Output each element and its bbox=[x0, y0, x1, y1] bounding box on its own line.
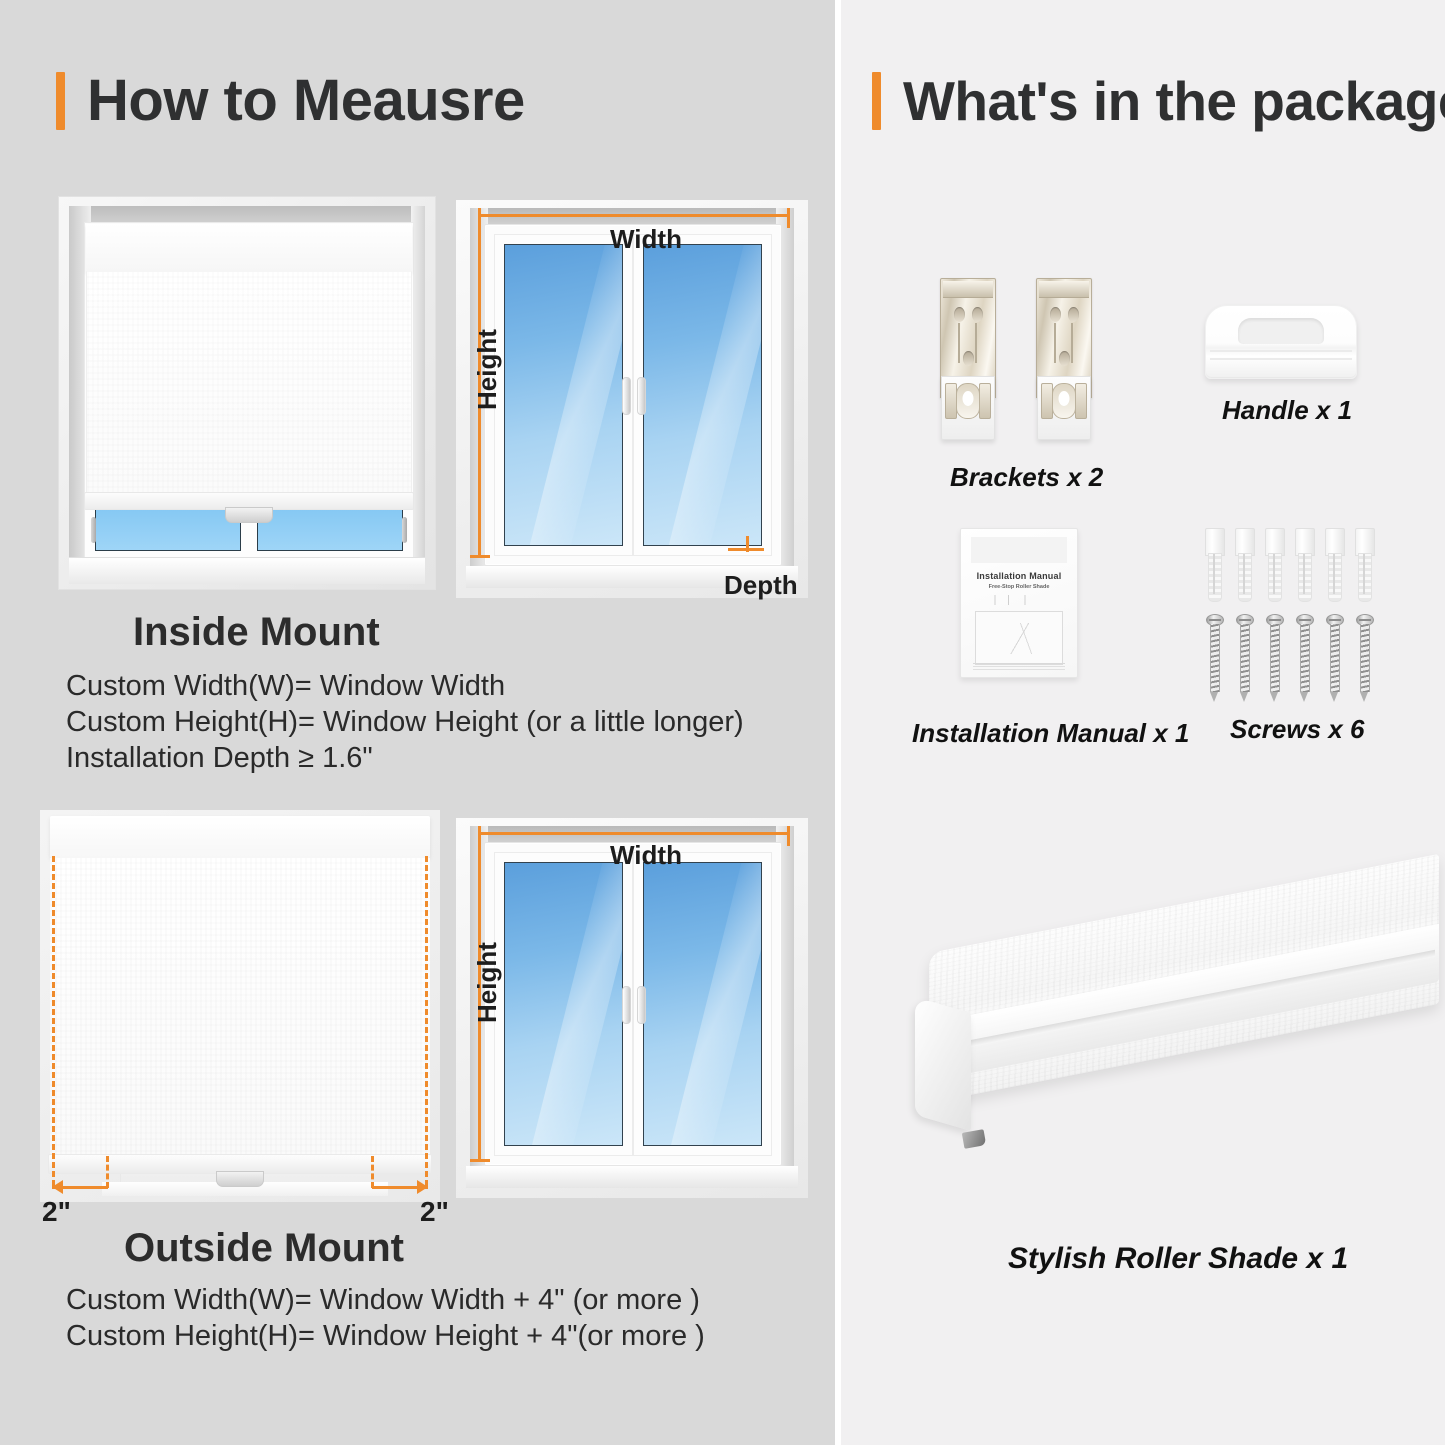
bracket-rib-b-1 bbox=[975, 323, 977, 363]
installation-manual-label: Installation Manual x 1 bbox=[912, 718, 1189, 749]
roller-shade-image bbox=[905, 935, 1425, 1220]
bracket-slot-2 bbox=[1052, 383, 1076, 419]
bracket-hole-c-2 bbox=[1059, 351, 1070, 366]
overhang-label-left: 2" bbox=[42, 1196, 71, 1228]
anchor-head-6 bbox=[1355, 528, 1375, 556]
bracket-rib-b-2 bbox=[1071, 323, 1073, 363]
screw-tip-3 bbox=[1270, 692, 1278, 702]
bracket-1 bbox=[940, 278, 994, 440]
anchor-head-4 bbox=[1295, 528, 1315, 556]
bracket-rib-a-2 bbox=[1054, 323, 1056, 363]
inside-mount-title: Inside Mount bbox=[133, 610, 380, 655]
screw-2 bbox=[1236, 614, 1252, 702]
screw-shaft-1 bbox=[1210, 624, 1220, 692]
outside-shade-valance bbox=[50, 816, 430, 858]
diagram-sashes bbox=[494, 234, 772, 556]
handle-body bbox=[1205, 305, 1357, 379]
outside-mount-measure-diagram: Width Height bbox=[456, 818, 808, 1198]
shade-valance bbox=[86, 224, 412, 273]
bracket-clip-right-1 bbox=[979, 383, 991, 419]
bracket-hole-b-1 bbox=[972, 307, 983, 322]
infographic-page: How to Meausre bbox=[0, 0, 1445, 1445]
bracket-slot-1 bbox=[956, 383, 980, 419]
diagram-sash-left-2 bbox=[494, 852, 633, 1156]
handle-label: Handle x 1 bbox=[1222, 395, 1352, 426]
screw-tip-1 bbox=[1210, 692, 1218, 702]
height-label: Height bbox=[472, 329, 503, 410]
outside-mount-spec-2: Custom Height(H)= Window Height + 4"(or … bbox=[66, 1320, 705, 1353]
height-dimension-cap-bottom bbox=[470, 555, 490, 558]
handle-groove-1 bbox=[1210, 350, 1352, 352]
diagram-handle-right bbox=[637, 377, 646, 415]
width-dimension-line bbox=[478, 214, 790, 217]
inside-mount-spec-3: Installation Depth ≥ 1.6" bbox=[66, 742, 373, 775]
anchor-body-6 bbox=[1358, 553, 1372, 602]
bracket-rib-a-1 bbox=[958, 323, 960, 363]
anchor-body-1 bbox=[1208, 553, 1222, 602]
width-dimension-cap-right-2 bbox=[787, 826, 790, 846]
anchor-head-3 bbox=[1265, 528, 1285, 556]
window-sill bbox=[69, 557, 425, 584]
height-dimension-cap-bottom-2 bbox=[470, 1159, 490, 1162]
inside-mount-spec-2: Custom Height(H)= Window Height (or a li… bbox=[66, 706, 744, 739]
anchor-body-4 bbox=[1298, 553, 1312, 602]
outside-mount-spec-1: Custom Width(W)= Window Width + 4" (or m… bbox=[66, 1284, 700, 1317]
roller-shade-label: Stylish Roller Shade x 1 bbox=[1008, 1242, 1348, 1276]
accent-bar-icon-right bbox=[872, 72, 881, 130]
bracket-top-flange-2 bbox=[1039, 281, 1089, 298]
wall-anchor-4 bbox=[1295, 528, 1313, 600]
bracket-2 bbox=[1036, 278, 1090, 440]
bracket-clip-right-2 bbox=[1075, 383, 1087, 419]
anchor-head-2 bbox=[1235, 528, 1255, 556]
anchor-slit-6 bbox=[1363, 554, 1365, 594]
outside-mount-title: Outside Mount bbox=[124, 1226, 404, 1271]
width-label: Width bbox=[610, 224, 682, 255]
overhang-arrow-right bbox=[417, 1180, 428, 1194]
height-label-2: Height bbox=[472, 942, 503, 1023]
brackets-image bbox=[940, 278, 1110, 448]
overhang-guide-right bbox=[425, 856, 428, 1186]
manual-cover-diagram-box bbox=[975, 611, 1063, 665]
diagram-glass-left-2 bbox=[504, 862, 623, 1146]
screw-1 bbox=[1206, 614, 1222, 702]
manual-cover-marks bbox=[991, 595, 1047, 605]
diagram-glass-left bbox=[504, 244, 623, 546]
diagram-handle-left bbox=[622, 377, 631, 415]
anchor-slit-3 bbox=[1273, 554, 1275, 594]
wall-anchor-3 bbox=[1265, 528, 1283, 600]
handle-slot bbox=[1238, 318, 1324, 344]
screw-6 bbox=[1356, 614, 1372, 702]
anchor-body-5 bbox=[1328, 553, 1342, 602]
overhang-edge-right bbox=[371, 1156, 374, 1188]
overhang-guide-left bbox=[52, 856, 55, 1186]
anchor-slit-1 bbox=[1213, 554, 1215, 594]
manual-footer-text bbox=[973, 663, 1065, 672]
accent-bar-icon bbox=[56, 72, 65, 130]
handle-image bbox=[1205, 305, 1365, 385]
screws-label: Screws x 6 bbox=[1230, 714, 1364, 745]
outside-mount-shade-illustration bbox=[40, 810, 440, 1202]
diagram-sash-right-2 bbox=[633, 852, 772, 1156]
screw-shaft-6 bbox=[1360, 624, 1370, 692]
diagram-glass-right-2 bbox=[643, 862, 762, 1146]
screw-shaft-4 bbox=[1300, 624, 1310, 692]
bracket-hole-a-1 bbox=[954, 307, 965, 322]
screw-3 bbox=[1266, 614, 1282, 702]
handle-groove-2 bbox=[1210, 358, 1352, 360]
screw-tip-2 bbox=[1240, 692, 1248, 702]
anchor-body-3 bbox=[1268, 553, 1282, 602]
screw-4 bbox=[1296, 614, 1312, 702]
diagram-sash-left bbox=[494, 234, 633, 556]
bracket-hole-a-2 bbox=[1050, 307, 1061, 322]
bracket-hole-b-2 bbox=[1068, 307, 1079, 322]
wall-anchor-1 bbox=[1205, 528, 1223, 600]
anchor-body-2 bbox=[1238, 553, 1252, 602]
diagram-glass-right bbox=[643, 244, 762, 546]
package-contents-heading: What's in the package bbox=[872, 72, 1445, 130]
roller-shade-metal-pin bbox=[962, 1129, 986, 1149]
how-to-measure-heading: How to Meausre bbox=[56, 72, 525, 130]
overhang-arrow-left bbox=[52, 1180, 63, 1194]
diagram-handle-left-2 bbox=[622, 986, 631, 1024]
anchor-slit-5 bbox=[1333, 554, 1335, 594]
screw-tip-4 bbox=[1300, 692, 1308, 702]
inside-mount-spec-1: Custom Width(W)= Window Width bbox=[66, 670, 505, 703]
anchor-head-5 bbox=[1325, 528, 1345, 556]
wall-anchor-2 bbox=[1235, 528, 1253, 600]
bracket-plastic-base-1 bbox=[941, 376, 995, 440]
installation-manual-image: Installation Manual Free-Stop Roller Sha… bbox=[960, 528, 1078, 678]
bracket-plastic-base-2 bbox=[1037, 376, 1091, 440]
diagram-window-frame bbox=[484, 224, 782, 566]
anchor-slit-2 bbox=[1243, 554, 1245, 594]
diagram-sash-right bbox=[633, 234, 772, 556]
overhang-label-right: 2" bbox=[420, 1196, 449, 1228]
left-heading-text: How to Meausre bbox=[87, 72, 525, 130]
diagram-sill-2 bbox=[466, 1166, 798, 1188]
screw-shaft-2 bbox=[1240, 624, 1250, 692]
screw-shaft-3 bbox=[1270, 624, 1280, 692]
wall-anchor-5 bbox=[1325, 528, 1343, 600]
outside-shade-pull-tab bbox=[216, 1171, 264, 1187]
anchor-slit-4 bbox=[1303, 554, 1305, 594]
screw-shaft-5 bbox=[1330, 624, 1340, 692]
width-dimension-cap-right bbox=[787, 208, 790, 228]
manual-cover-title: Installation Manual bbox=[961, 571, 1077, 581]
width-label-2: Width bbox=[610, 840, 682, 871]
roller-shade-end-cap bbox=[915, 997, 971, 1131]
depth-dimension-line bbox=[746, 536, 749, 552]
screw-tip-6 bbox=[1360, 692, 1368, 702]
manual-cover-subtitle: Free-Stop Roller Shade bbox=[961, 584, 1077, 590]
shade-bottom-rail bbox=[84, 492, 414, 510]
wall-anchor-6 bbox=[1355, 528, 1373, 600]
sash-handle-right bbox=[402, 517, 407, 543]
diagram-handle-right-2 bbox=[637, 986, 646, 1024]
screws-image bbox=[1205, 528, 1385, 703]
brackets-label: Brackets x 2 bbox=[950, 462, 1103, 493]
inside-mount-measure-diagram: Width Height Depth bbox=[456, 200, 808, 598]
diagram-window-frame-2 bbox=[484, 842, 782, 1166]
outside-shade-fabric bbox=[50, 858, 430, 1158]
manual-cover-diagram bbox=[1002, 623, 1042, 653]
shade-fabric bbox=[86, 272, 412, 494]
shade-pull-tab bbox=[225, 507, 273, 523]
bracket-top-flange-1 bbox=[943, 281, 993, 298]
width-dimension-line-2 bbox=[478, 832, 790, 835]
screw-5 bbox=[1326, 614, 1342, 702]
right-heading-text: What's in the package bbox=[903, 74, 1445, 129]
sash-handle-left bbox=[91, 517, 96, 543]
manual-top-band bbox=[971, 537, 1067, 563]
depth-label: Depth bbox=[724, 570, 798, 601]
screw-tip-5 bbox=[1330, 692, 1338, 702]
anchor-head-1 bbox=[1205, 528, 1225, 556]
bracket-hole-c-1 bbox=[963, 351, 974, 366]
overhang-edge-left bbox=[106, 1156, 109, 1188]
inside-mount-shade-illustration bbox=[58, 196, 436, 590]
diagram-sashes-2 bbox=[494, 852, 772, 1156]
